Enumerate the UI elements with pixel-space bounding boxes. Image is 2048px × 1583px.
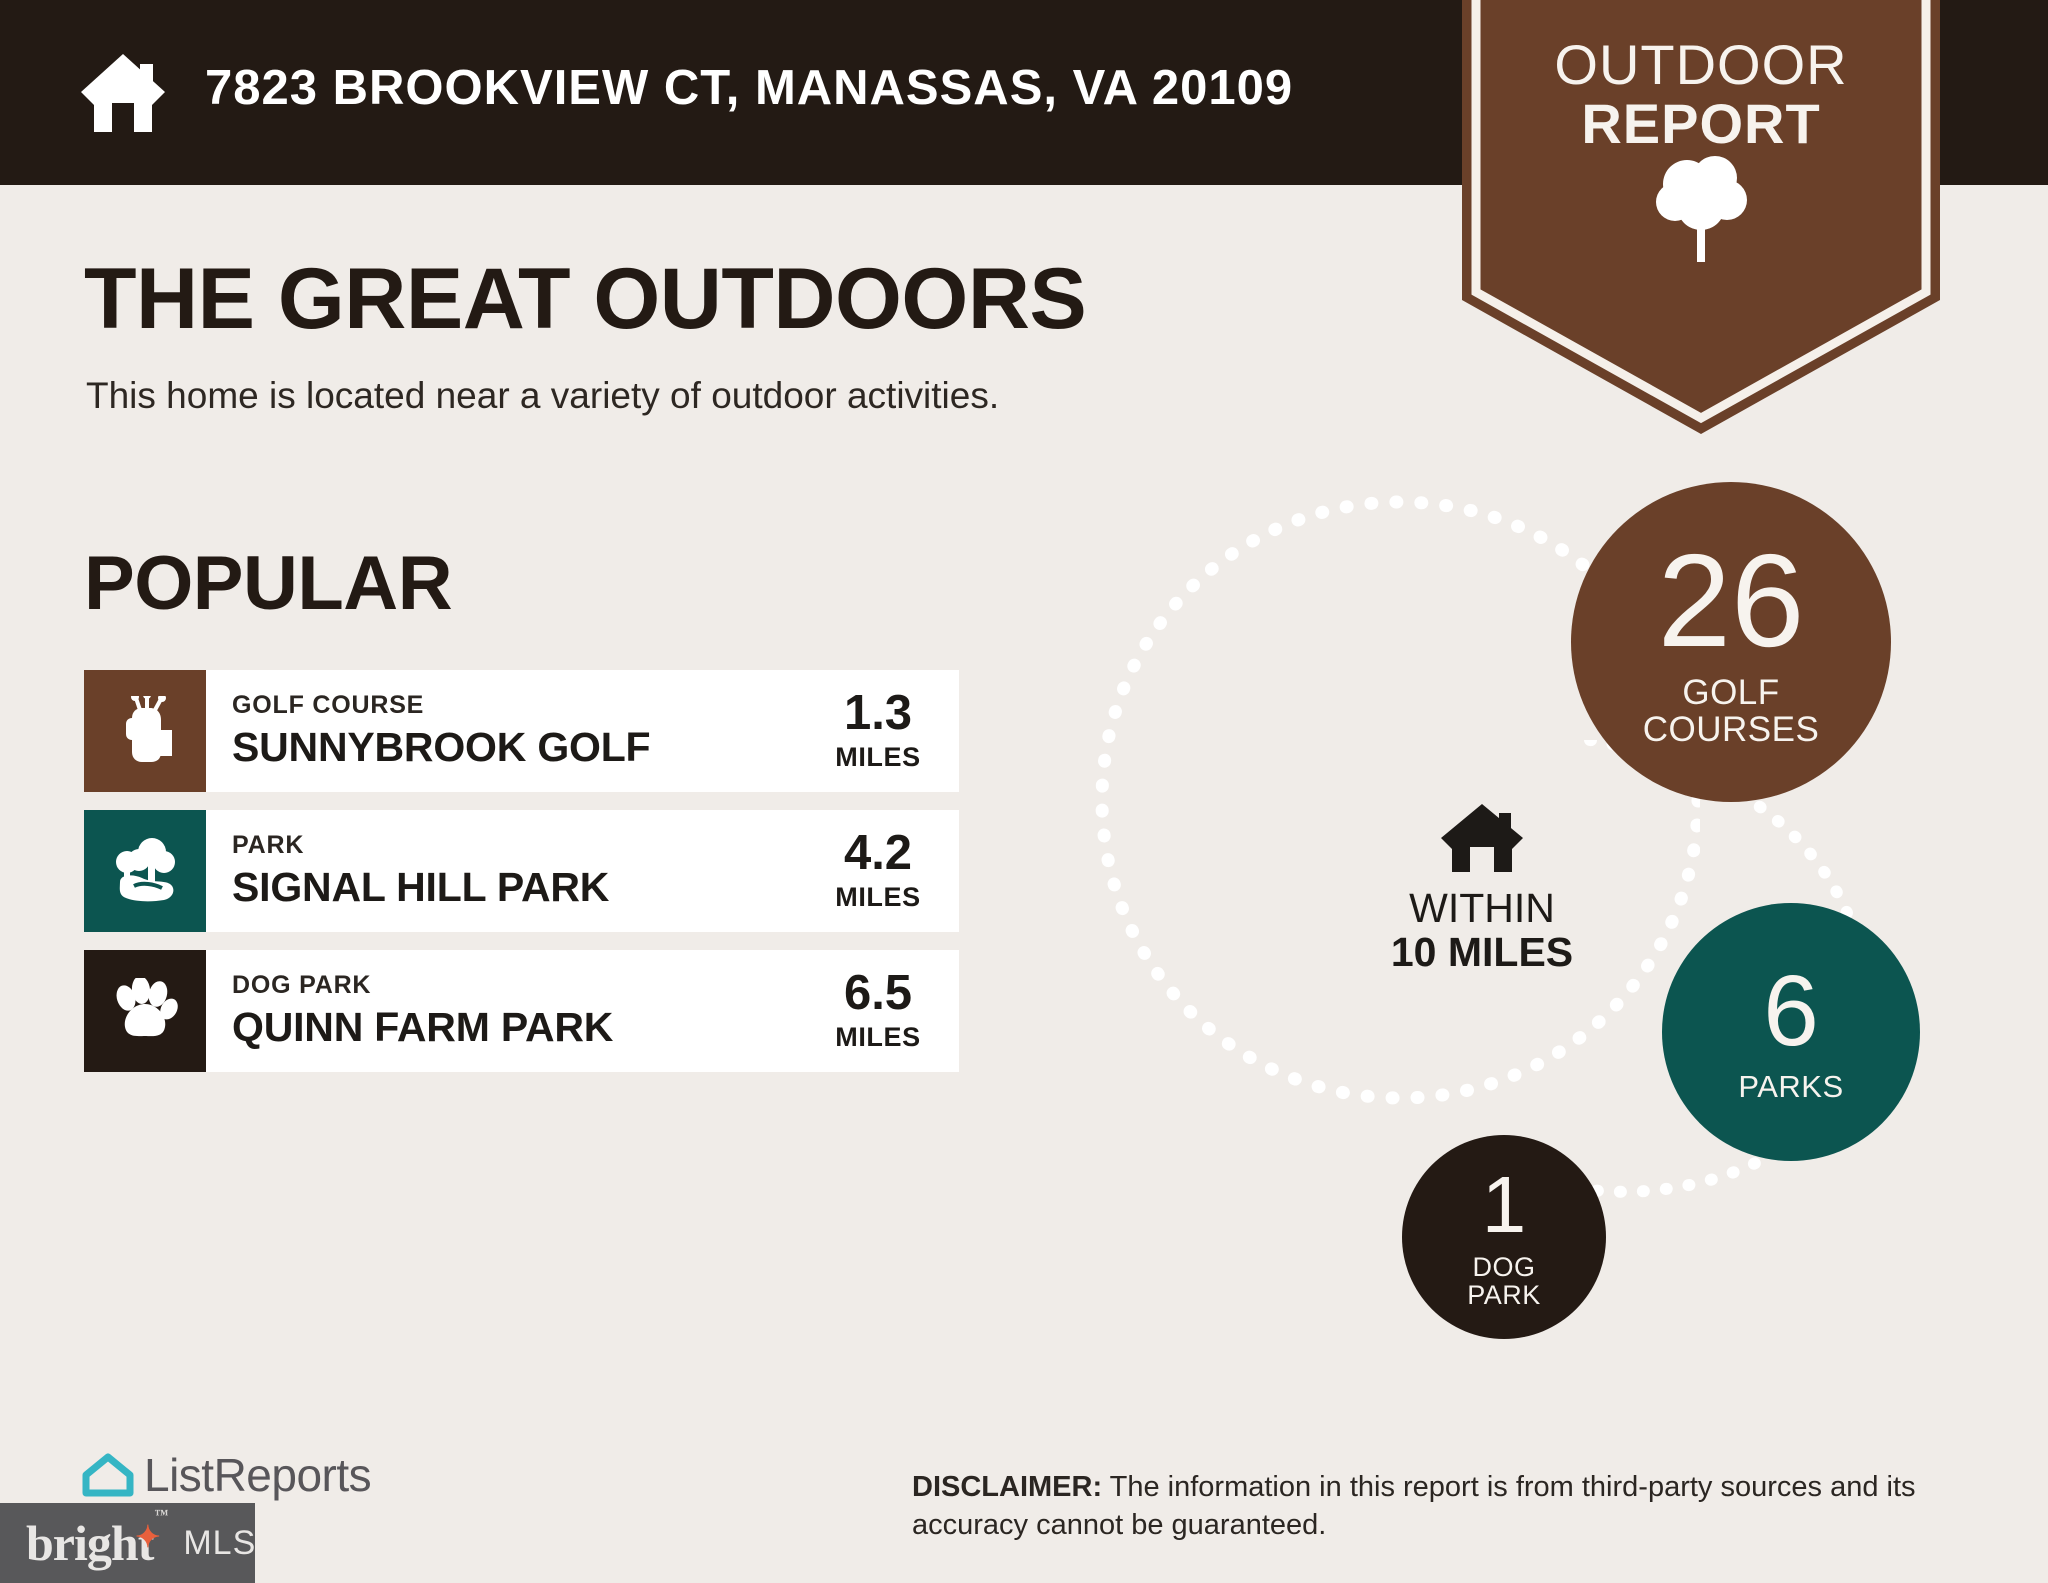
park-trees-icon (84, 810, 206, 932)
list-item-body: GOLF COURSE SUNNYBROOK GOLF 1.3 MILES (206, 670, 959, 792)
list-item-name: SUNNYBROOK GOLF (232, 724, 650, 771)
outdoor-report-page: 7823 BROOKVIEW CT, MANASSAS, VA 20109 OU… (0, 0, 2048, 1583)
mls-text: MLS (183, 1524, 256, 1563)
popular-heading: POPULAR (84, 540, 452, 627)
stat-label-line1: PARKS (1738, 1071, 1843, 1104)
stat-count: 1 (1482, 1165, 1527, 1245)
list-item-category: GOLF COURSE (232, 691, 650, 720)
outdoor-report-badge: OUTDOOR REPORT (1462, 0, 1940, 434)
within-label-line1: WITHIN (1409, 886, 1555, 930)
within-label-line2: 10 MILES (1391, 930, 1573, 974)
stat-label-line1: DOG (1472, 1253, 1535, 1281)
distance-unit: MILES (835, 742, 921, 773)
distance-value: 6.5 (844, 969, 912, 1018)
list-item-distance: 4.2 MILES (823, 829, 933, 913)
list-item-body: PARK SIGNAL HILL PARK 4.2 MILES (206, 810, 959, 932)
trademark-mark: ™ (154, 1508, 167, 1524)
stat-count: 6 (1763, 961, 1819, 1061)
list-item-category: DOG PARK (232, 971, 613, 1000)
popular-list: GOLF COURSE SUNNYBROOK GOLF 1.3 MILES (84, 670, 959, 1090)
distance-unit: MILES (835, 882, 921, 913)
property-address: 7823 BROOKVIEW CT, MANASSAS, VA 20109 (205, 60, 1293, 116)
golf-bag-icon (84, 670, 206, 792)
list-item-name: SIGNAL HILL PARK (232, 864, 609, 911)
stat-label-line2: PARK (1467, 1281, 1541, 1309)
disclaimer: DISCLAIMER: The information in this repo… (912, 1468, 1982, 1545)
list-item-text: GOLF COURSE SUNNYBROOK GOLF (232, 691, 650, 771)
within-radius-marker: WITHIN 10 MILES (1362, 800, 1602, 975)
listreports-logo: ListReports (80, 1448, 371, 1502)
page-subtitle: This home is located near a variety of o… (86, 375, 999, 417)
list-item[interactable]: PARK SIGNAL HILL PARK 4.2 MILES (84, 810, 959, 932)
badge-line-1: OUTDOOR (1462, 36, 1940, 95)
list-item[interactable]: GOLF COURSE SUNNYBROOK GOLF 1.3 MILES (84, 670, 959, 792)
distance-unit: MILES (835, 1022, 921, 1053)
disclaimer-label: DISCLAIMER: (912, 1471, 1102, 1503)
listreports-wordmark: ListReports (144, 1448, 371, 1502)
list-item-body: DOG PARK QUINN FARM PARK 6.5 MILES (206, 950, 959, 1072)
listreports-house-icon (80, 1449, 144, 1501)
list-item-distance: 6.5 MILES (823, 969, 933, 1053)
stat-bubble-dog-park: 1 DOG PARK (1402, 1135, 1606, 1339)
list-item[interactable]: DOG PARK QUINN FARM PARK 6.5 MILES (84, 950, 959, 1072)
page-title: THE GREAT OUTDOORS (84, 250, 1086, 349)
list-item-category: PARK (232, 831, 609, 860)
distance-value: 4.2 (844, 829, 912, 878)
home-icon (78, 48, 168, 138)
badge-line-2: REPORT (1462, 95, 1940, 154)
stat-count: 26 (1658, 535, 1805, 667)
stat-label-line1: GOLF (1682, 675, 1779, 712)
distance-value: 1.3 (844, 689, 912, 738)
star-icon: ✦ (135, 1520, 159, 1555)
stat-bubble-parks: 6 PARKS (1662, 903, 1920, 1161)
paw-print-icon (84, 950, 206, 1072)
list-item-name: QUINN FARM PARK (232, 1004, 613, 1051)
stat-label-line2: COURSES (1643, 712, 1820, 749)
list-item-distance: 1.3 MILES (823, 689, 933, 773)
home-icon (1439, 800, 1525, 886)
bright-wordmark: bright ✦ ™ (26, 1514, 153, 1572)
bright-mls-watermark: bright ✦ ™ MLS (0, 1503, 255, 1583)
list-item-text: DOG PARK QUINN FARM PARK (232, 971, 613, 1051)
stat-bubble-golf-courses: 26 GOLF COURSES (1571, 482, 1891, 802)
list-item-text: PARK SIGNAL HILL PARK (232, 831, 609, 911)
